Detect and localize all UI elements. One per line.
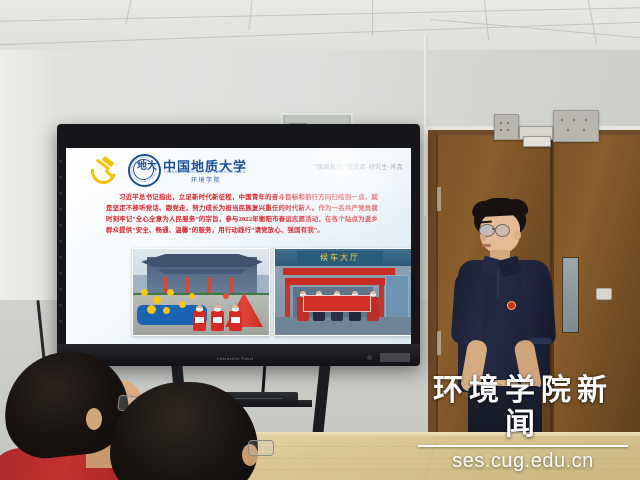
photo-volunteer xyxy=(193,305,206,331)
door-closer-plate xyxy=(494,114,519,140)
slide-header: 地大 中国地质大学 CHINA UNIVERSITY OF GEOSCIENCE… xyxy=(66,148,411,188)
slide-meta-line: “强国复兴” 党支部·研究生·肖克 xyxy=(315,162,403,171)
audience-ear xyxy=(86,408,102,430)
presenter-hair-fringe xyxy=(472,199,529,218)
glasses-bridge xyxy=(492,228,496,230)
glasses-icon xyxy=(248,440,274,456)
ir-sensor-icon xyxy=(367,355,372,360)
presenter-placket xyxy=(497,270,499,298)
slide-photo-volunteers-station: 候车大厅 xyxy=(274,248,411,336)
audience-member-dark-shirt xyxy=(110,382,300,480)
slide-body-paragraph: 习近平总书记指出，立足新时代新征程，中国青年的奋斗目标和前行方向归结到一点，就是… xyxy=(106,192,378,236)
slide-body-text: 习近平总书记指出，立足新时代新征程，中国青年的奋斗目标和前行方向归结到一点，就是… xyxy=(106,192,378,236)
watermark-url: ses.cug.edu.cn xyxy=(416,450,630,472)
photo-station-sign: 候车大厅 xyxy=(297,251,383,264)
ceiling xyxy=(0,0,640,50)
classroom-presentation-photo: 地大 中国地质大学 CHINA UNIVERSITY OF GEOSCIENCE… xyxy=(0,0,640,480)
door-hinge-icon xyxy=(437,331,441,355)
photo-volunteer xyxy=(211,305,224,331)
display-spec-badge xyxy=(380,353,410,362)
party-emblem-icon xyxy=(88,156,118,182)
ceiling-tile-grid xyxy=(0,0,640,50)
watermark: 环境学院新闻 ses.cug.edu.cn xyxy=(416,374,630,472)
door-closer-bracket xyxy=(523,136,551,147)
presenter-mouth xyxy=(482,244,491,247)
audience-hair xyxy=(110,382,258,480)
display-screen[interactable]: 地大 中国地质大学 CHINA UNIVERSITY OF GEOSCIENCE… xyxy=(66,148,411,344)
interactive-display[interactable]: 地大 中国地质大学 CHINA UNIVERSITY OF GEOSCIENCE… xyxy=(57,124,420,366)
slide-photo-volunteers-building xyxy=(132,248,270,336)
party-member-badge-icon xyxy=(508,302,515,309)
display-brand-label: Interactive Panel xyxy=(217,356,254,361)
watermark-divider xyxy=(418,445,628,447)
presenter-nose xyxy=(481,234,486,241)
photo-red-banner xyxy=(303,295,371,312)
university-name-en: CHINA UNIVERSITY OF GEOSCIENCES xyxy=(164,170,246,174)
cug-logo-icon: 地大 xyxy=(128,154,161,187)
presenter-ear xyxy=(514,230,521,240)
door-switch-plate[interactable] xyxy=(596,288,612,300)
cug-logo-mark: 地大 xyxy=(137,162,157,172)
presentation-slide: 地大 中国地质大学 CHINA UNIVERSITY OF GEOSCIENCE… xyxy=(66,148,411,344)
door-vision-panel xyxy=(562,257,579,333)
presenter-sleeve-right xyxy=(522,273,557,347)
door-hinge-icon xyxy=(437,187,441,211)
presenter-sleeve-left xyxy=(451,273,486,345)
bezel-speaker-dots xyxy=(59,154,63,334)
glasses-icon xyxy=(495,224,510,237)
watermark-title: 环境学院新闻 xyxy=(416,374,630,442)
door-closer-plate xyxy=(553,110,599,142)
school-name: 环境学院 xyxy=(191,175,221,184)
photo-volunteer xyxy=(229,305,242,331)
